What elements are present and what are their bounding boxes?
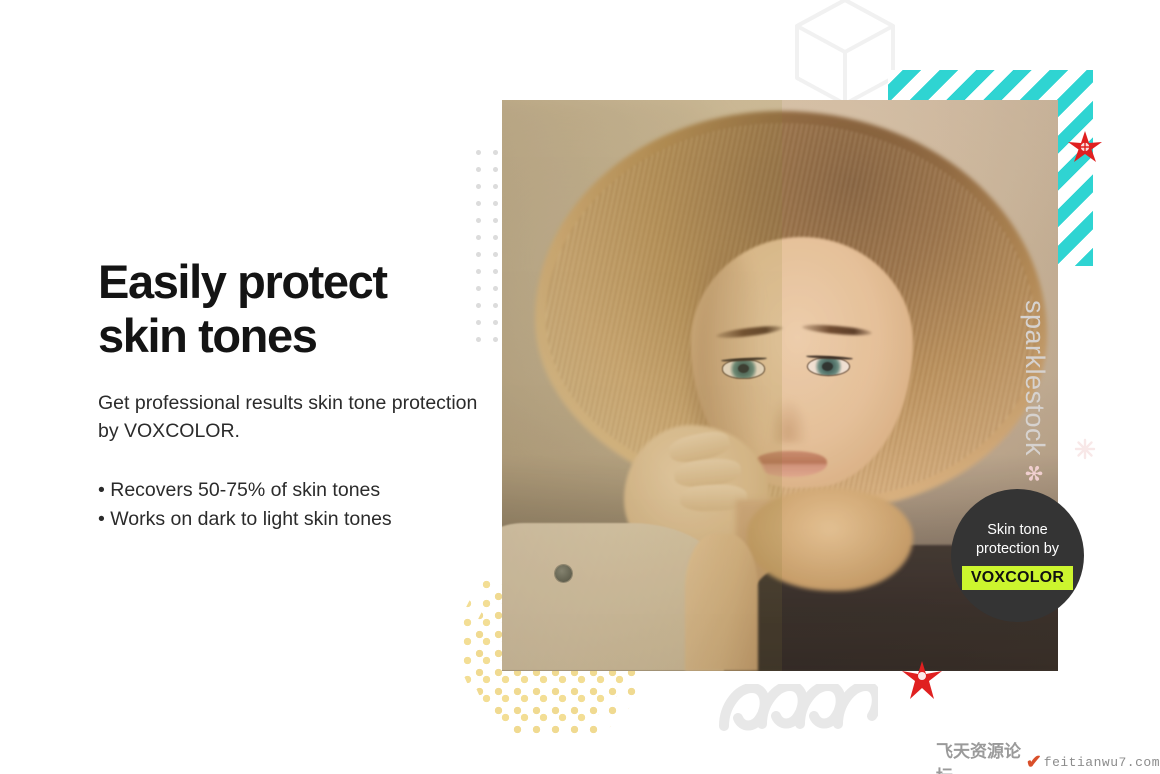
pink-sparkle-icon [1073,437,1097,461]
forum-watermark-url: feitianwu7.com [1044,755,1160,770]
page-title-line-2: skin tones [98,309,498,363]
page-title-line-1: Easily protect [98,255,498,309]
forum-watermark-cn: 飞天资源论坛 [936,737,1024,774]
loop-squiggle-decor [718,684,878,732]
badge-line-2: protection by [976,540,1059,559]
cube-outline-icon [790,0,900,109]
poster-canvas: sparklestock ✻ Skin tone protection by V… [0,0,1160,774]
list-item: • Recovers 50-75% of skin tones [98,476,518,505]
red-star-sparkle-icon-2 [902,661,942,701]
description-text: Get professional results skin tone prote… [98,389,488,445]
photo-left-unprotected [502,100,782,671]
sparklestock-watermark: sparklestock ✻ [1010,300,1050,490]
page-title: Easily protect skin tones [98,255,498,363]
check-icon: ✔ [1026,751,1042,774]
red-star-sparkle-icon [1068,131,1102,165]
badge-line-1: Skin tone [987,521,1047,540]
sparklestock-watermark-star: ✻ [1021,464,1046,483]
list-item: • Works on dark to light skin tones [98,505,518,534]
feature-bullet-list: • Recovers 50-75% of skin tones • Works … [98,476,518,534]
sparklestock-watermark-text: sparklestock [1020,300,1050,456]
forum-watermark: 飞天资源论坛 ✔ feitianwu7.com [936,737,1160,774]
badge-brand-tag: VOXCOLOR [962,566,1073,590]
skin-tone-protection-badge[interactable]: Skin tone protection by VOXCOLOR [951,489,1084,622]
